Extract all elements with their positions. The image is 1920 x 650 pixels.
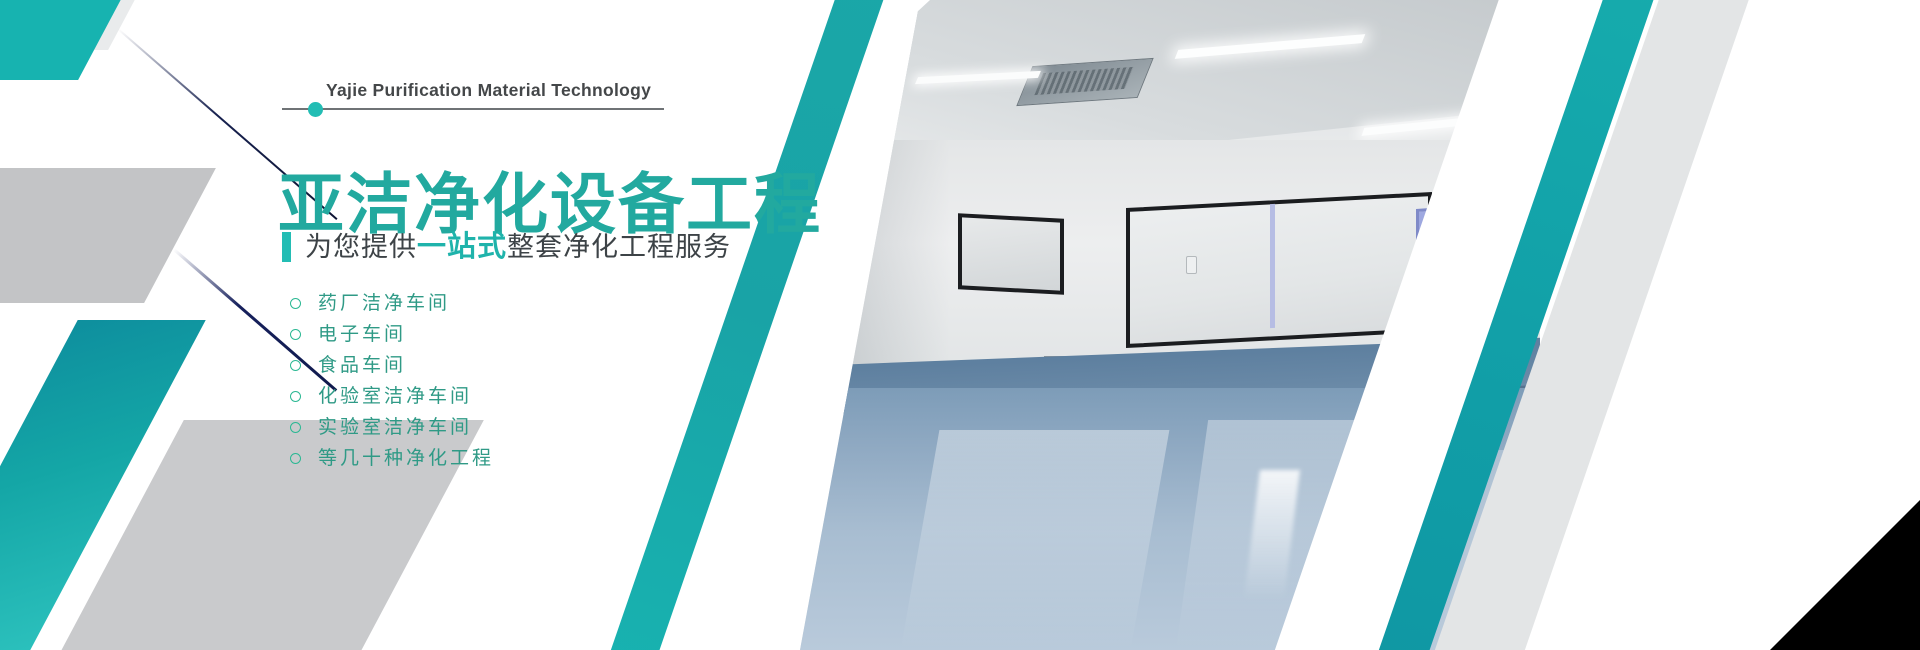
list-item-label: 食品车间 [318,356,406,375]
list-item[interactable]: 药厂洁净车间 [290,288,494,319]
list-item-label: 电子车间 [318,325,406,344]
list-item[interactable]: 实验室洁净车间 [290,412,494,443]
decor-lower-left-teal-parallelogram [0,320,206,650]
list-item[interactable]: 电子车间 [290,319,494,350]
list-item-label: 化验室洁净车间 [318,387,472,406]
list-item[interactable]: 等几十种净化工程 [290,443,494,474]
subtitle-group: 为您提供一站式整套净化工程服务 [282,232,731,262]
subtitle-text: 为您提供一站式整套净化工程服务 [305,233,731,262]
brand-eyebrow-text: Yajie Purification Material Technology [282,82,682,100]
eyebrow-dot-icon [308,102,323,117]
banner-content: Yajie Purification Material Technology 亚… [272,0,832,650]
bullet-circle-icon [290,453,301,464]
eyebrow-group: Yajie Purification Material Technology [282,82,682,100]
service-list: 药厂洁净车间电子车间食品车间化验室洁净车间实验室洁净车间等几十种净化工程 [290,288,494,474]
eyebrow-rule [282,108,664,110]
bullet-circle-icon [290,329,301,340]
photo-window-left [958,213,1064,295]
list-item-label: 等几十种净化工程 [318,449,494,468]
subtitle-suffix: 整套净化工程服务 [507,232,731,262]
subtitle-accent-bar [282,232,291,262]
bullet-circle-icon [290,360,301,371]
promo-banner: Yajie Purification Material Technology 亚… [0,0,1920,650]
subtitle-highlight: 一站式 [417,231,507,263]
list-item-label: 药厂洁净车间 [318,294,450,313]
list-item[interactable]: 化验室洁净车间 [290,381,494,412]
list-item-label: 实验室洁净车间 [318,418,472,437]
page-title: 亚洁净化设备工程 [278,170,838,239]
bullet-circle-icon [290,422,301,433]
subtitle-prefix: 为您提供 [305,232,417,262]
decor-dark-corner [1770,500,1920,650]
list-item[interactable]: 食品车间 [290,350,494,381]
decor-top-left-teal-wedge [0,0,142,80]
photo-wall-sensor [1186,256,1197,274]
photo-inner-door-frame [1270,204,1275,328]
decor-top-left-gray-band [0,0,172,50]
bullet-circle-icon [290,391,301,402]
decor-mid-left-gray-parallelogram [0,168,216,303]
photo-floor-reflection-1 [901,430,1170,650]
bullet-circle-icon [290,298,301,309]
